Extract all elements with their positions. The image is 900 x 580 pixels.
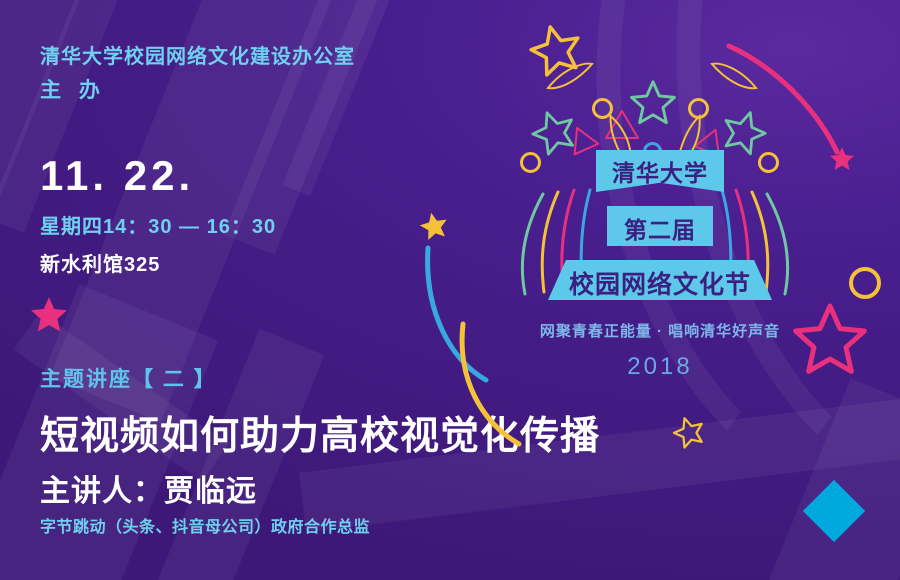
festival-year: 2018 [520, 353, 800, 381]
organizer-role: 主 办 [40, 74, 106, 104]
festival-slogan: 网聚青春正能量 · 唱响清华好声音 [520, 320, 800, 341]
lecture-series-label: 主题讲座【 二 】 [40, 363, 217, 393]
festival-emblem: 清华大学 第二届 校园网络文化节 网聚青春正能量 · 唱响清华好声音 2018 [520, 150, 800, 381]
emblem-banner-university: 清华大学 [596, 150, 724, 192]
yellow-leaf-icon [544, 58, 596, 98]
event-date: 11. 22. [40, 155, 194, 197]
green-outline-star-icon [720, 108, 768, 156]
organizer-name: 清华大学校园网络文化建设办公室 [40, 40, 355, 69]
poster-canvas: 清华大学校园网络文化建设办公室 主 办 11. 22. 星期四14：30 — 1… [0, 0, 900, 580]
emblem-banner-edition: 第二届 [607, 206, 713, 246]
yellow-leaf-icon [708, 58, 760, 98]
lecture-affiliation: 字节跳动（头条、抖音母公司）政府合作总监 [40, 513, 370, 537]
small-yellow-outline-star-icon [672, 415, 706, 449]
event-time: 星期四14：30 — 16：30 [40, 210, 276, 239]
pink-star-icon [28, 294, 70, 336]
lecture-speaker: 主讲人：贾临远 [40, 466, 257, 510]
event-venue: 新水利馆325 [40, 248, 160, 277]
pink-outline-star-icon [790, 300, 870, 380]
pink-shooting-star-icon [828, 145, 856, 173]
yellow-star-icon [418, 210, 450, 242]
emblem-banner-festival: 校园网络文化节 [548, 260, 772, 300]
yellow-ring-icon [849, 267, 881, 299]
